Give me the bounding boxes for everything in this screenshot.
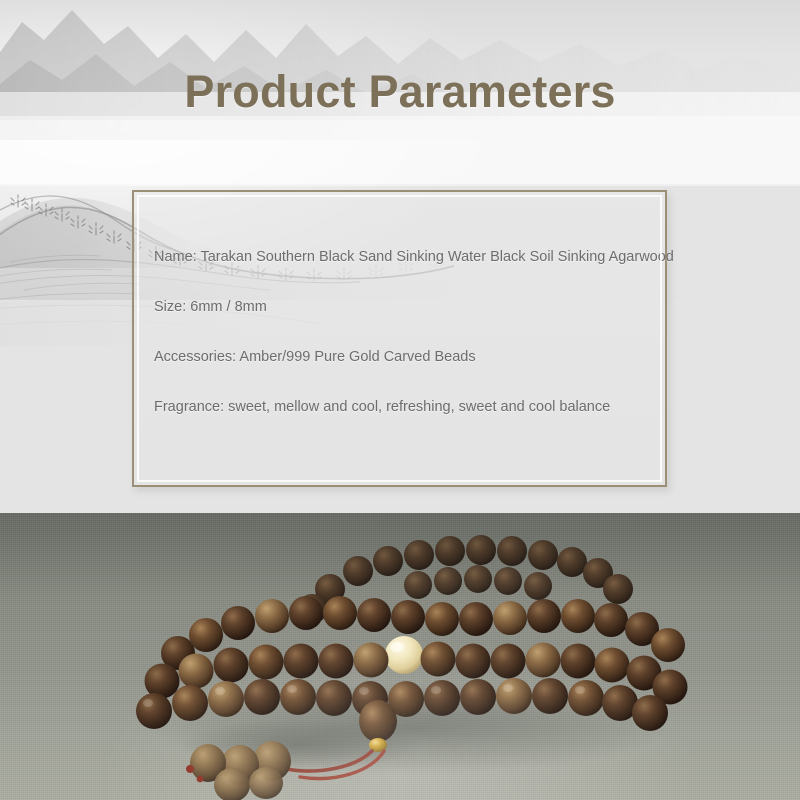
product-photo xyxy=(0,513,800,800)
parameters-section: Product Parameters Name: Tarakan Souther… xyxy=(0,0,800,513)
spec-row-size: Size: 6mm / 8mm xyxy=(154,298,651,316)
agarwood-mala-bracelet-illustration xyxy=(0,513,800,800)
spec-row-accessories: Accessories: Amber/999 Pure Gold Carved … xyxy=(154,348,651,366)
guru-bead xyxy=(359,700,397,742)
spec-list: Name: Tarakan Southern Black Sand Sinkin… xyxy=(154,248,651,416)
spec-row-fragrance: Fragrance: sweet, mellow and cool, refre… xyxy=(154,398,651,416)
product-parameters-page: Product Parameters Name: Tarakan Souther… xyxy=(0,0,800,800)
spec-row-name: Name: Tarakan Southern Black Sand Sinkin… xyxy=(154,248,651,266)
spec-box: Name: Tarakan Southern Black Sand Sinkin… xyxy=(132,190,667,487)
page-title: Product Parameters xyxy=(0,66,800,118)
center-amber-bead xyxy=(385,636,423,674)
